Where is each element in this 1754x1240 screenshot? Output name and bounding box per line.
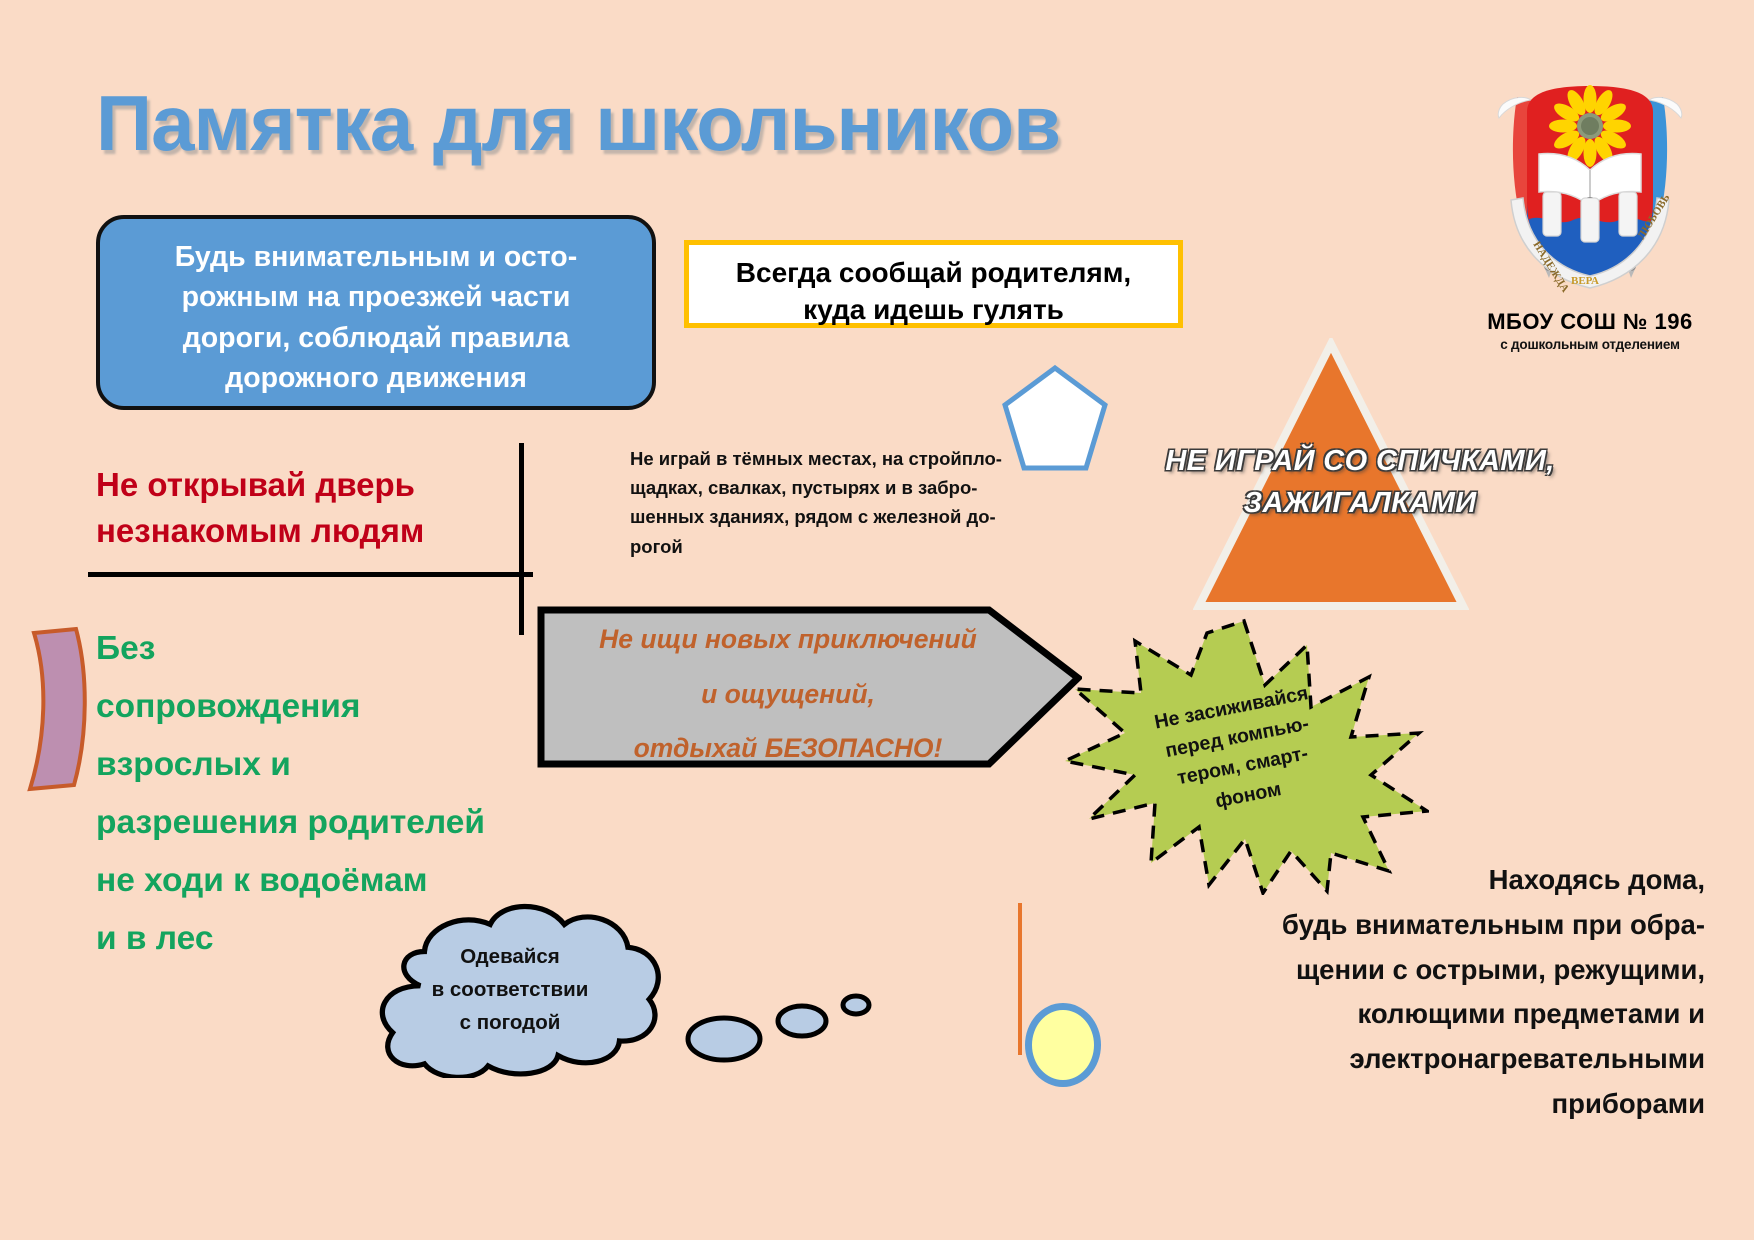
home-safety-line-1: Находясь дома, — [1055, 858, 1705, 903]
pentagon-shape — [1000, 363, 1110, 484]
home-safety-line-6: приборами — [1055, 1082, 1705, 1127]
road-safety-line-1: Будь внимательным и осто- — [118, 237, 634, 277]
road-safety-box: Будь внимательным и осто- рожным на прое… — [96, 215, 656, 410]
tell-parents-box: Всегда сообщай родителям, куда идешь гул… — [684, 240, 1183, 328]
home-safety-line-3: щении с острыми, режущими, — [1055, 948, 1705, 993]
water-forest-line-1: Без — [96, 620, 656, 678]
stranger-door-line-2: незнакомым людям — [96, 508, 516, 554]
water-forest-line-3: взрослых и — [96, 736, 656, 794]
weather-line-3: с погодой — [395, 1006, 625, 1039]
home-safety-line-5: электронагревательными — [1055, 1037, 1705, 1082]
school-emblem-icon: НАДЕЖДА ВЕРА ЛЮБОВЬ — [1475, 52, 1705, 307]
water-forest-line-5: не ходи к водоёмам — [96, 852, 656, 910]
orange-divider-line — [1018, 903, 1022, 1055]
dark-places-line-3: шенных зданиях, рядом с железной до- — [630, 502, 1075, 531]
school-emblem-block: НАДЕЖДА ВЕРА ЛЮБОВЬ МБОУ СОШ № 196 с дош… — [1430, 52, 1750, 352]
road-safety-line-4: дорожного движения — [118, 358, 634, 398]
fire-warning-text: НЕ ИГРАЙ СО СПИЧКАМИ, ЗАЖИГАЛКАМИ — [1150, 440, 1570, 524]
page-title: Памятка для школьников — [96, 78, 1060, 169]
home-safety-line-4: колющими предметами и — [1055, 992, 1705, 1037]
fire-warning-line-1: НЕ ИГРАЙ СО СПИЧКАМИ, — [1150, 440, 1570, 482]
weather-line-1: Одевайся — [395, 940, 625, 973]
fire-warning-line-2: ЗАЖИГАЛКАМИ — [1150, 482, 1570, 524]
road-safety-line-2: рожным на проезжей части — [118, 277, 634, 317]
home-safety-line-2: будь внимательным при обра- — [1055, 903, 1705, 948]
weather-cloud-text: Одевайся в соответствии с погодой — [395, 940, 625, 1040]
mauve-ribbon-shape — [24, 625, 94, 800]
poster-canvas: Памятка для школьников — [0, 0, 1754, 1240]
weather-line-2: в соответствии — [395, 973, 625, 1006]
vertical-divider — [519, 443, 524, 635]
stranger-door-line-1: Не открывай дверь — [96, 462, 516, 508]
tell-parents-line-1: Всегда сообщай родителям, — [689, 255, 1178, 292]
water-forest-line-2: сопровождения — [96, 678, 656, 736]
road-safety-line-3: дороги, соблюдай правила — [118, 318, 634, 358]
water-forest-line-4: разрешения родителей — [96, 794, 656, 852]
emblem-ribbon-center: ВЕРА — [1571, 275, 1599, 287]
horizontal-divider — [88, 572, 533, 577]
school-name: МБОУ СОШ № 196 — [1430, 309, 1750, 335]
home-safety-warning: Находясь дома, будь внимательным при обр… — [1055, 858, 1705, 1127]
school-subtitle: с дошкольным отделением — [1430, 337, 1750, 352]
dark-places-line-4: рогой — [630, 532, 1075, 561]
tell-parents-line-2: куда идешь гулять — [689, 292, 1178, 329]
stranger-door-warning: Не открывай дверь незнакомым людям — [96, 462, 516, 554]
